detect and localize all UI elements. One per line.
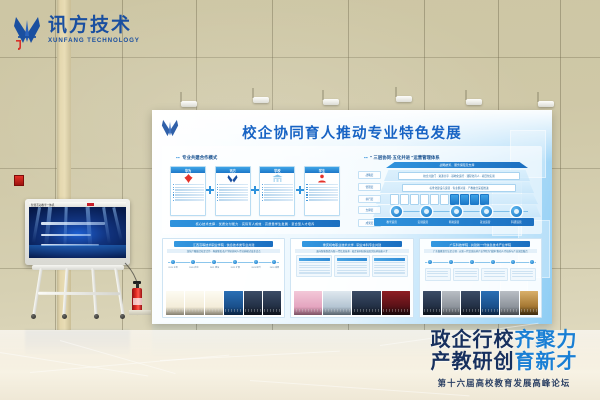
timeline-node [511, 260, 515, 264]
case-column-group [296, 255, 407, 277]
timeline-axis [425, 262, 536, 263]
timeline-node [191, 260, 195, 264]
case-panel-subtitle: 深化产教融合校企合作 · 构建新形态产学研协同人才培养模式改革试点 [167, 249, 280, 253]
timeline-node [530, 260, 534, 264]
photo-thumbnail [481, 291, 499, 315]
timeline-node [171, 260, 175, 264]
pyramid-tag: 科研运营 [511, 220, 521, 224]
photo-thumbnail [500, 291, 518, 315]
photo-thumbnail [442, 291, 460, 315]
case-panel: 重庆机电职业技术大学 · 职业本科专业共建 面向智能制造与新一代信息技术 · 校… [290, 238, 413, 318]
case-panel: 广东科技学院 · 共建新一代信息技术产业学院 广东省教育厅认定立项 · 以新一代… [419, 238, 542, 318]
pyramid-tag: 师资运营 [449, 220, 459, 224]
photo-strip [166, 291, 281, 315]
partner-card: 学校 [259, 166, 295, 216]
company-name-en: XUNFANG TECHNOLOGY [48, 38, 140, 44]
timeline-axis [168, 262, 279, 263]
company-logo: 讯方技术 XUNFANG TECHNOLOGY [12, 14, 140, 46]
pyramid-top-box: 校企共建门 · 资源共享 · 基地化运行 · 课程化育人 · 项目化实训 [398, 172, 520, 180]
case-panel-subtitle: 面向智能制造与新一代信息技术 · 校企协同培养高层次技术技能人才 [295, 249, 408, 253]
forum-subtitle: 第十六届高校教育发展高峰论坛 [414, 377, 594, 389]
pyramid-tag: 实训运营 [418, 220, 428, 224]
monitor-toolbar-label: 智慧互动教学一体机 [31, 203, 54, 207]
monitor-brand-mark [87, 203, 94, 205]
huawei-logo-icon [171, 173, 205, 183]
slide-text-line [41, 234, 91, 237]
slogan-line-2: 产教研创育新才 [414, 352, 594, 374]
case-panel-body: 2019 立项 2020 启动 2021 建设 2022 扩展 2023 提升 … [166, 254, 281, 291]
photo-thumbnail [323, 291, 351, 315]
case-panel-subtitle: 广东省教育厅认定立项 · 以新一代信息技术产业学院为"载体"推动人才培养与产业深… [424, 249, 537, 253]
photo-thumbnail [461, 291, 479, 315]
pyramid-tag: 教学运营 [386, 220, 396, 224]
pyramid-layer-label: 支撑层 [358, 206, 381, 214]
case-column [296, 255, 332, 277]
left-section-heading: ▪▪专业共建合作模式 [176, 155, 217, 161]
photo-thumbnail [423, 291, 441, 315]
plus-icon [295, 166, 304, 214]
pyramid-chip-row [390, 194, 490, 205]
case-column [372, 255, 408, 277]
timeline-node [449, 260, 453, 264]
exhibition-hall-photo: 讯方技术 XUNFANG TECHNOLOGY 智慧互动教学一体机 [0, 0, 600, 400]
case-panel-title: 江西高等技术职业学院 · 信息技术类专业共建 [174, 241, 273, 247]
right-section-heading: ▪▪" 三层协同·五化并进 "运营管理体系 [364, 155, 440, 161]
timeline-node [272, 260, 276, 264]
photo-thumbnail [185, 291, 203, 315]
photo-thumbnail [244, 291, 262, 315]
pyramid-cap-label: 战略统筹、服务保障及支撑 [386, 162, 528, 168]
case-panel: 江西高等技术职业学院 · 信息技术类专业共建 深化产教融合校企合作 · 构建新形… [162, 238, 285, 318]
extinguisher-base [129, 310, 151, 315]
timeline-node [428, 260, 432, 264]
school-building-icon [260, 173, 294, 183]
photo-thumbnail [205, 291, 223, 315]
exhibition-banner: 校企协同育人推动专业特色发展 ▪▪专业共建合作模式 华为 [152, 110, 552, 324]
case-column-group [425, 268, 536, 281]
timeline-caption: 2024 成果 [270, 267, 286, 270]
slogan-line-1: 政企行校齐聚力 [414, 330, 594, 352]
photo-strip [294, 291, 409, 315]
pyramid-node [391, 206, 402, 217]
fire-alarm-icon [14, 175, 24, 186]
case-panel-title: 重庆机电职业技术大学 · 职业本科专业共建 [302, 241, 401, 247]
fire-hook-icon [14, 40, 23, 51]
case-panel-title: 广东科技学院 · 共建新一代信息技术产业学院 [431, 241, 530, 247]
pyramid-layer-label: 战略层 [358, 171, 381, 179]
monitor-stand-crossbar [32, 265, 124, 270]
pyramid-tag: 就业运营 [480, 220, 490, 224]
timeline-caption: 2020 启动 [189, 267, 210, 270]
photo-thumbnail [224, 291, 242, 315]
photo-strip [423, 291, 538, 315]
case-column [453, 268, 479, 281]
case-panels: 江西高等技术职业学院 · 信息技术类专业共建 深化产教融合校企合作 · 构建新形… [162, 238, 542, 318]
photo-thumbnail [166, 291, 184, 315]
pyramid-node [421, 206, 432, 217]
timeline-node [254, 260, 258, 264]
timeline-caption: 2021 建设 [210, 267, 231, 270]
forum-slogan: 政企行校齐聚力 产教研创育新才 第十六届高校教育发展高峰论坛 [414, 330, 594, 389]
case-column [425, 268, 451, 281]
pyramid-node [511, 206, 522, 217]
pyramid-footer-tags: 教学运营 实训运营 师资运营 就业运营 科研运营 [374, 218, 534, 226]
student-icon [305, 173, 339, 183]
timeline-node [233, 260, 237, 264]
stand-caster [62, 314, 67, 319]
presentation-monitor: 智慧互动教学一体机 [25, 199, 130, 265]
timeline-node [212, 260, 216, 264]
pyramid-node [451, 206, 462, 217]
left-section-footer: 核心技术支撑 · 优质交付能力 · 实际育人成效 · 高质量学生发展 · 复合型… [170, 220, 340, 227]
cooperation-model-cards: 华为 讯方 [170, 166, 340, 218]
partner-card: 华为 [170, 166, 206, 216]
case-panel-body [423, 254, 538, 291]
photo-thumbnail [263, 291, 281, 315]
monitor-screen [29, 207, 126, 258]
timeline-caption: 2019 立项 [168, 267, 189, 270]
case-column [334, 255, 370, 277]
photo-thumbnail [352, 291, 380, 315]
case-panel-body [294, 254, 409, 291]
stand-caster [31, 314, 36, 319]
operations-pyramid-diagram: 战略统筹、服务保障及支撑 战略层 管理层 执行层 支撑层 成果层 校企共建门 ·… [358, 162, 536, 228]
pyramid-node [481, 206, 492, 217]
pyramid-layer-label: 管理层 [358, 183, 381, 191]
photo-thumbnail [382, 291, 410, 315]
slide-text-line [41, 222, 105, 225]
stand-caster [94, 314, 99, 319]
partner-card: 讯方 [215, 166, 251, 216]
timeline-node [491, 260, 495, 264]
case-column [481, 268, 507, 281]
pyramid-mid-box: 标准化建设与运营 · 专业群对接 · 产教融合深度推进 [402, 184, 516, 192]
timeline-caption: 2022 扩展 [231, 267, 252, 270]
pyramid-layer-label: 执行层 [358, 195, 381, 203]
timeline-node [470, 260, 474, 264]
company-name-cn: 讯方技术 [48, 16, 140, 35]
banner-title: 校企协同育人推动专业特色发展 [152, 122, 552, 143]
partner-card: 学生 [304, 166, 340, 216]
xunfang-logo-icon [216, 173, 250, 183]
plus-icon [251, 166, 260, 214]
case-column [510, 268, 536, 281]
photo-thumbnail [294, 291, 322, 315]
photo-thumbnail [520, 291, 538, 315]
plus-icon [206, 166, 215, 214]
